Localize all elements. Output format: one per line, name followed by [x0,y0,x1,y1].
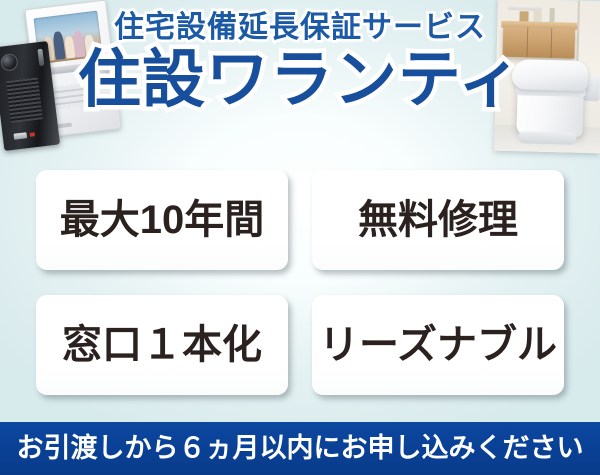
feature-label: 無料修理 [358,200,518,240]
application-deadline-text: お引渡しから６ヵ月以内にお申し込みください [17,435,584,462]
application-deadline-banner: お引渡しから６ヵ月以内にお申し込みください [0,422,600,475]
feature-box-reasonable[interactable]: リーズナブル [312,295,564,395]
service-subtitle: 住宅設備延長保証サービス [0,12,600,44]
feature-box-single-contact[interactable]: 窓口１本化 [36,295,288,395]
feature-grid: 最大10年間 無料修理 窓口１本化 リーズナブル [36,170,564,395]
intercom-call-button [14,132,28,140]
intercom-led [30,132,35,137]
title-block: 住宅設備延長保証サービス 住設ワランティ [0,12,600,114]
promo-banner: 住宅設備延長保証サービス 住設ワランティ 最大10年間 無料修理 窓口１本化 リ… [0,0,600,475]
service-title: 住設ワランティ [0,46,600,114]
toilet-base [518,131,576,145]
feature-box-free-repair[interactable]: 無料修理 [312,170,564,270]
feature-label: 最大10年間 [60,200,265,240]
feature-box-max-years[interactable]: 最大10年間 [36,170,288,270]
feature-label: 窓口１本化 [62,325,262,365]
feature-label: リーズナブル [319,325,557,365]
